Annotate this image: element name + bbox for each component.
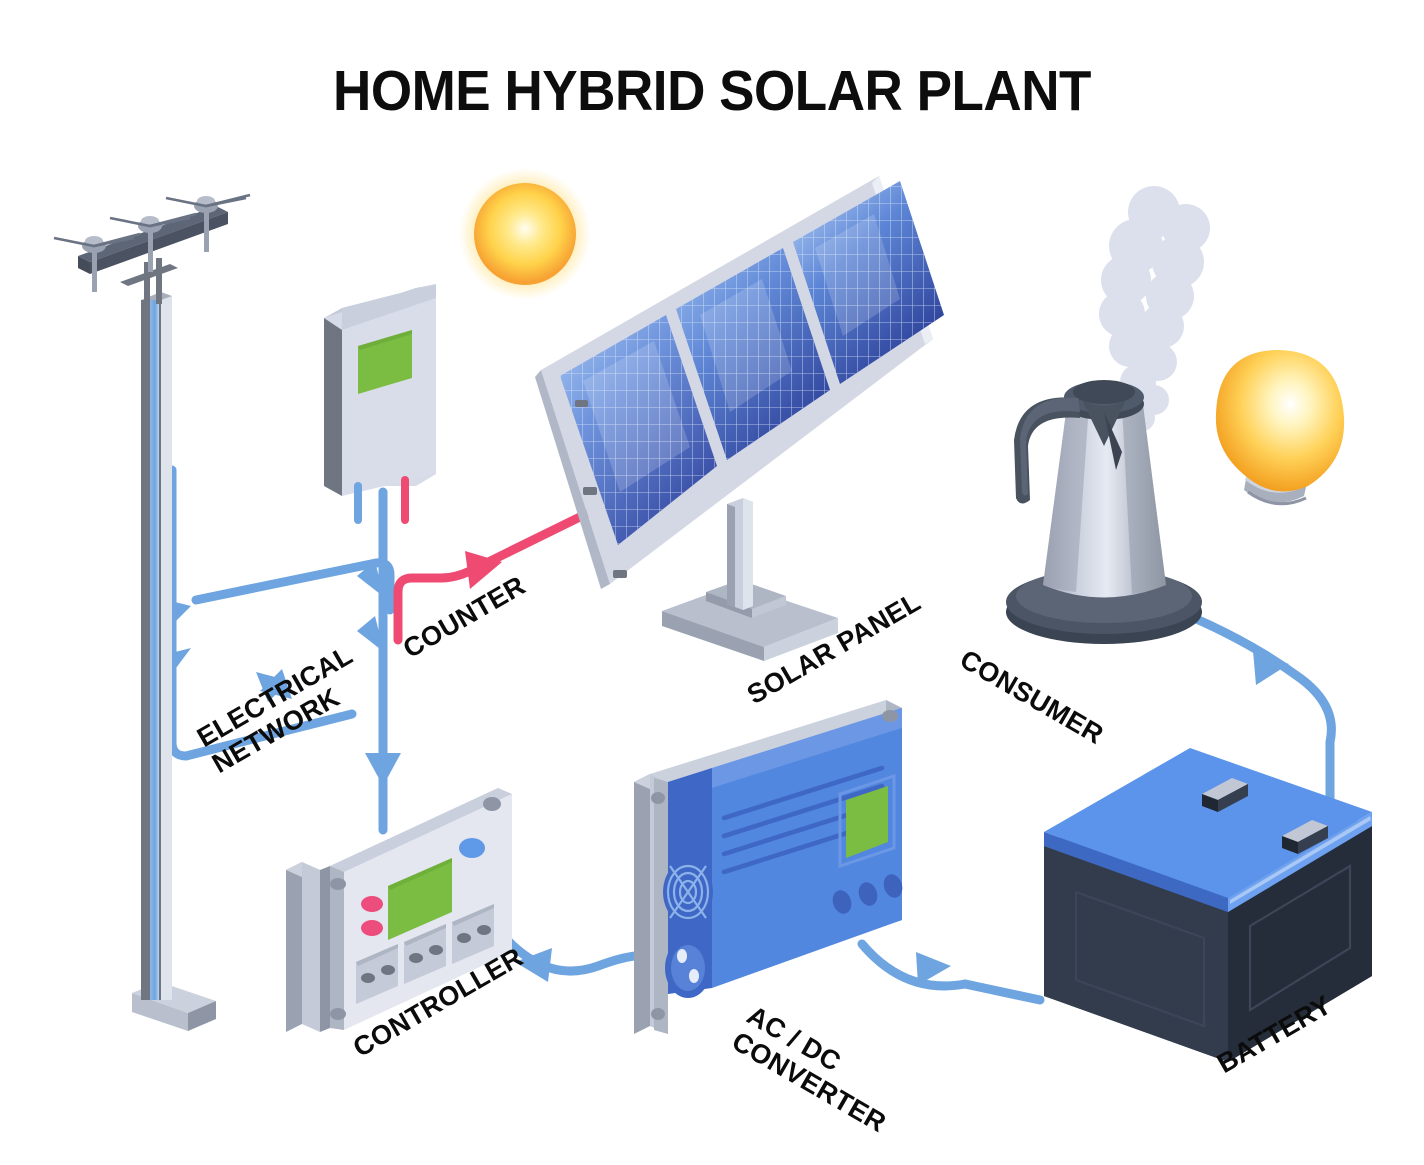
wire-counter-to-controller [365,492,401,830]
light-bulb [1216,350,1344,504]
wire-converter-to-battery [862,944,1040,1000]
diagram-canvas: HOME HYBRID SOLAR PLANT [0,0,1424,1165]
kettle [1006,186,1210,644]
sun [459,168,591,300]
converter-socket [665,938,711,998]
controller-led-2 [361,920,383,936]
solar-panel [535,176,944,661]
utility-pole [54,195,250,1031]
controller-led-1 [361,896,383,912]
counter-box [324,284,436,496]
converter-fan-grille [663,860,713,924]
isometric-illustration [0,0,1424,1165]
converter [634,700,905,1034]
controller-button [459,838,485,858]
